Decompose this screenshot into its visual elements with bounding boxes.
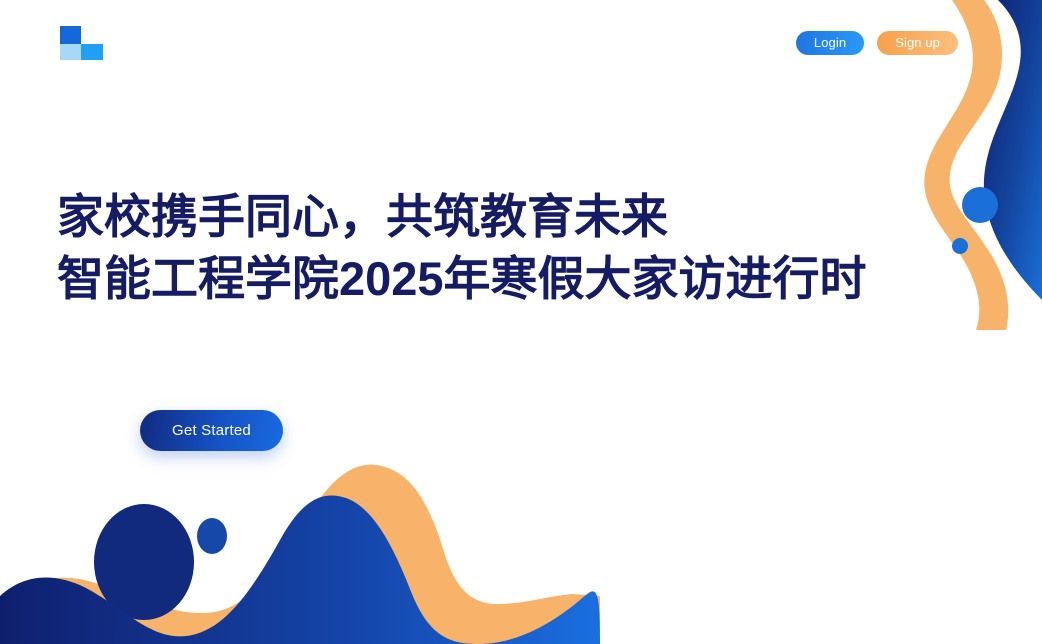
decor-circle-large [962, 187, 998, 223]
logo-square-bottom-left [60, 44, 81, 60]
logo-square-bottom-right [81, 44, 103, 60]
nav-actions: Login Sign up [796, 31, 958, 55]
landing-page-poster: Login Sign up 家校携手同心，共筑教育未来 智能工程学院2025年寒… [0, 0, 1042, 644]
page-header: Login Sign up [0, 0, 1042, 85]
headline-line-1: 家校携手同心，共筑教育未来 [57, 186, 957, 248]
headline-line-2: 智能工程学院2025年寒假大家访进行时 [57, 248, 957, 310]
decor-ellipse-small [197, 518, 227, 554]
page-title: 家校携手同心，共筑教育未来 智能工程学院2025年寒假大家访进行时 [57, 186, 957, 310]
brand-logo[interactable] [60, 26, 104, 60]
get-started-button[interactable]: Get Started [140, 410, 283, 451]
decor-ellipse-large [94, 504, 194, 620]
bottom-orange-wave [0, 465, 600, 644]
cta-container: Get Started [140, 410, 283, 451]
decorative-background [0, 0, 1042, 644]
login-button[interactable]: Login [796, 31, 864, 55]
signup-button[interactable]: Sign up [877, 31, 958, 55]
hero-section: 家校携手同心，共筑教育未来 智能工程学院2025年寒假大家访进行时 [57, 186, 957, 310]
bottom-blue-wave [0, 495, 600, 644]
logo-square-top-left [60, 26, 81, 44]
